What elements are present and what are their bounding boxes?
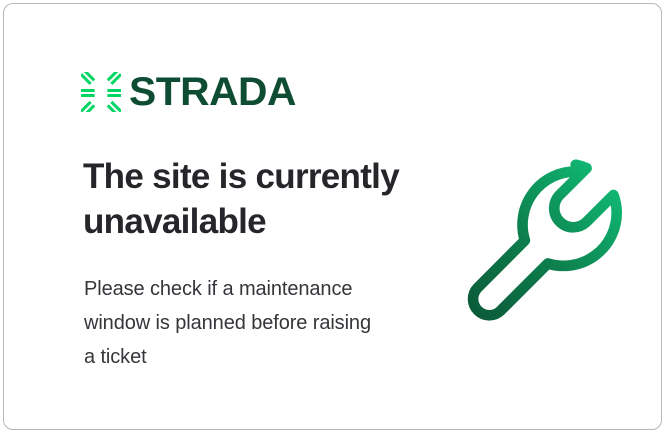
error-page: STRADA The site is currently unavailable… — [0, 0, 666, 436]
wrench-icon — [456, 154, 624, 322]
page-description: Please check if a maintenance window is … — [84, 272, 384, 374]
maintenance-card: STRADA The site is currently unavailable… — [3, 3, 662, 430]
strada-asterisk-icon — [81, 72, 121, 112]
brand-lockup: STRADA — [81, 72, 293, 112]
page-title: The site is currently unavailable — [83, 154, 413, 244]
brand-wordmark: STRADA — [129, 72, 296, 112]
